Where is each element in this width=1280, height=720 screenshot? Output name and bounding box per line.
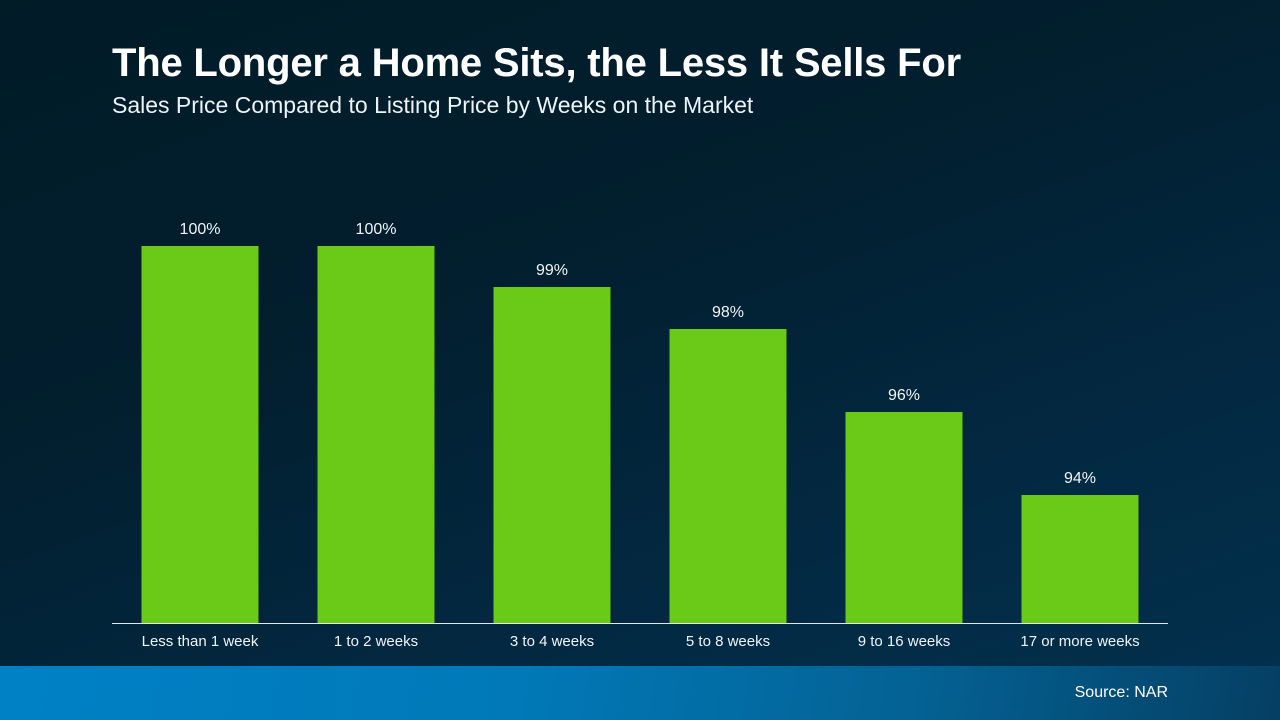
bar-value-label: 99% <box>536 263 568 279</box>
bar-rect[interactable] <box>494 287 611 624</box>
bar-group: 99% <box>464 200 640 624</box>
bar-column[interactable]: 100% <box>142 222 259 624</box>
bar-column[interactable]: 99% <box>494 263 611 624</box>
bar-column[interactable]: 100% <box>318 222 435 624</box>
x-axis-tick-label: Less than 1 week <box>112 631 288 653</box>
page-subtitle: Sales Price Compared to Listing Price by… <box>112 92 1172 118</box>
bar-value-label: 100% <box>356 222 397 238</box>
x-axis-tick-label: 5 to 8 weeks <box>640 631 816 653</box>
chart-slide: The Longer a Home Sits, the Less It Sell… <box>0 0 1280 720</box>
bar-column[interactable]: 94% <box>1022 471 1139 624</box>
bar-rect[interactable] <box>1022 495 1139 624</box>
bar-group: 98% <box>640 200 816 624</box>
bar-group: 100% <box>112 200 288 624</box>
bar-column[interactable]: 96% <box>846 388 963 624</box>
bar-rect[interactable] <box>670 329 787 624</box>
bar-value-label: 94% <box>1064 471 1096 487</box>
x-axis-tick-label: 17 or more weeks <box>992 631 1168 653</box>
bar-rect[interactable] <box>846 412 963 624</box>
x-axis-tick-label: 9 to 16 weeks <box>816 631 992 653</box>
bar-rect[interactable] <box>142 246 259 624</box>
bar-rect[interactable] <box>318 246 435 624</box>
header: The Longer a Home Sits, the Less It Sell… <box>112 42 1172 118</box>
bar-group: 100% <box>288 200 464 624</box>
bar-column[interactable]: 98% <box>670 305 787 624</box>
x-axis-line <box>112 623 1168 624</box>
bar-group: 96% <box>816 200 992 624</box>
footer-bar: Source: NAR <box>0 666 1280 720</box>
bar-value-label: 98% <box>712 305 744 321</box>
x-axis-category-labels: Less than 1 week1 to 2 weeks3 to 4 weeks… <box>112 631 1168 659</box>
bar-group: 94% <box>992 200 1168 624</box>
x-axis-tick-label: 1 to 2 weeks <box>288 631 464 653</box>
source-label: Source: NAR <box>1075 684 1168 702</box>
x-axis-tick-label: 3 to 4 weeks <box>464 631 640 653</box>
page-title: The Longer a Home Sits, the Less It Sell… <box>112 42 1172 84</box>
bar-value-label: 96% <box>888 388 920 404</box>
bar-chart-plot-area: 100%100%99%98%96%94% <box>112 200 1168 624</box>
bar-value-label: 100% <box>180 222 221 238</box>
